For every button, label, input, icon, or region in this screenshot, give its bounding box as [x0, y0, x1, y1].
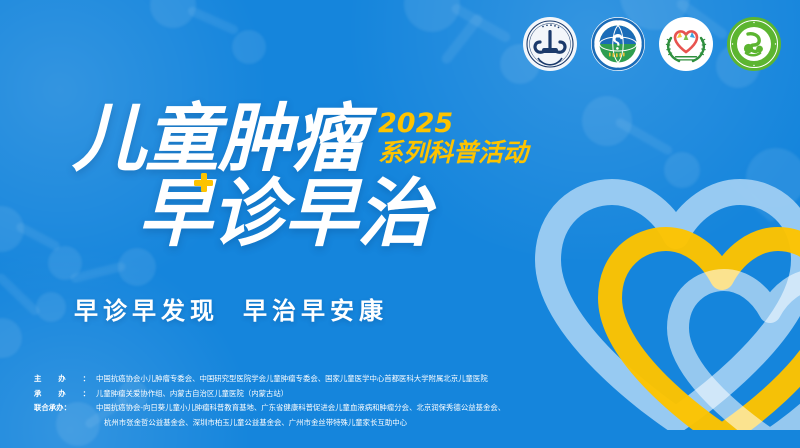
credit-value-organizer: 儿童肿瘤关爱协作组、内蒙古自治区儿童医院（内蒙古站） [96, 387, 505, 401]
credit-label-organizer-colon: ： [83, 387, 90, 401]
title-line-two-row: 早诊早治 [138, 179, 528, 250]
credit-value-co-organizer-line-2: 杭州市张金哲公益基金会、深圳市柏玉儿童公益基金会、广州市金丝带特殊儿童家长互助中… [96, 416, 505, 430]
green-foundation-logo [726, 16, 782, 72]
year-series-block: 2025 系列科普活动 [378, 110, 528, 168]
credit-label-host-char-1: 主 [34, 372, 41, 386]
slogan: 早诊早发现早治早安康 [74, 291, 388, 326]
credit-label-host-char-2: 办 [58, 372, 65, 386]
interlocking-hearts-graphic [526, 168, 800, 448]
credit-row-co-organizer-continued: 杭州市张金哲公益基金会、深圳市柏玉儿童公益基金会、广州市金丝带特殊儿童家长互助中… [34, 416, 505, 430]
main-title-line-1: 儿童肿瘤 [72, 104, 364, 175]
credit-label-organizer: 承 办 ： [34, 387, 96, 401]
title-line-one-row: 儿童肿瘤 2025 系列科普活动 [72, 104, 528, 175]
credit-value-host: 中国抗癌协会小儿肿瘤专委会、中国研究型医院学会儿童肿瘤专委会、国家儿童医学中心首… [96, 372, 505, 386]
beijing-childrens-hospital-logo [658, 16, 714, 72]
credit-label-host: 主 办 ： [34, 372, 96, 386]
credit-label-host-colon: ： [83, 372, 90, 386]
credit-row-host: 主 办 ： 中国抗癌协会小儿肿瘤专委会、中国研究型医院学会儿童肿瘤专委会、国家儿… [34, 372, 505, 386]
credit-label-organizer-char-2: 办 [58, 387, 65, 401]
slogan-right: 早治早安康 [243, 297, 388, 325]
credits-block: 主 办 ： 中国抗癌协会小儿肿瘤专委会、中国研究型医院学会儿童肿瘤专委会、国家儿… [34, 372, 505, 430]
credit-label-co-organizer: 联合承办： [34, 401, 96, 415]
credit-row-organizer: 承 办 ： 儿童肿瘤关爱协作组、内蒙古自治区儿童医院（内蒙古站） [34, 387, 505, 401]
series-label: 系列科普活动 [378, 138, 528, 168]
title-block: 儿童肿瘤 2025 系列科普活动 早诊早治 [72, 104, 528, 250]
credit-value-co-organizer-line-1: 中国抗癌协会-向日葵儿童小儿肿瘤科普教育基地、广东省健康科普促进会儿童血液病和肿… [96, 401, 505, 415]
medical-cross-icon [194, 173, 213, 192]
poster-canvas: 儿童肿瘤 2025 系列科普活动 早诊早治 早诊早发现早治早安康 主 办 ： 中… [0, 0, 800, 448]
credit-label-organizer-char-1: 承 [34, 387, 41, 401]
slogan-left: 早诊早发现 [74, 297, 219, 325]
organizer-logos [522, 16, 782, 72]
china-anti-cancer-association-logo [522, 16, 578, 72]
year-label: 2025 [378, 110, 528, 138]
china-research-hospital-association-logo [590, 16, 646, 72]
credit-row-co-organizer: 联合承办： 中国抗癌协会-向日葵儿童小儿肿瘤科普教育基地、广东省健康科普促进会儿… [34, 401, 505, 415]
